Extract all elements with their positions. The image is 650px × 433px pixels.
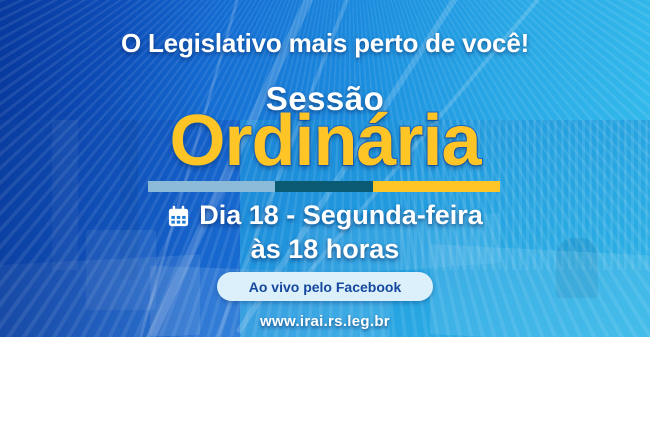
divider-segment-light: [148, 181, 275, 192]
calendar-icon: [167, 204, 190, 227]
tagline: O Legislativo mais perto de você!: [0, 28, 650, 59]
hero-banner: O Legislativo mais perto de você! Sessão…: [0, 0, 650, 337]
session-announcement-poster: O Legislativo mais perto de você! Sessão…: [0, 0, 650, 433]
session-time-text: às 18 horas: [0, 234, 650, 265]
footer-bar: /camarairai: [0, 337, 650, 433]
session-date-line: Dia 18 - Segunda-feira: [0, 200, 650, 231]
session-date-text: Dia 18 - Segunda-feira: [199, 200, 483, 231]
hero-text-layer: O Legislativo mais perto de você! Sessão…: [0, 0, 650, 337]
website-url[interactable]: www.irai.rs.leg.br: [0, 313, 650, 330]
tricolor-divider: [148, 181, 500, 192]
live-facebook-button[interactable]: Ao vivo pelo Facebook: [217, 272, 433, 301]
session-headline: Ordinária: [0, 105, 650, 177]
divider-segment-yellow: [373, 181, 500, 192]
divider-segment-dark: [275, 181, 374, 192]
